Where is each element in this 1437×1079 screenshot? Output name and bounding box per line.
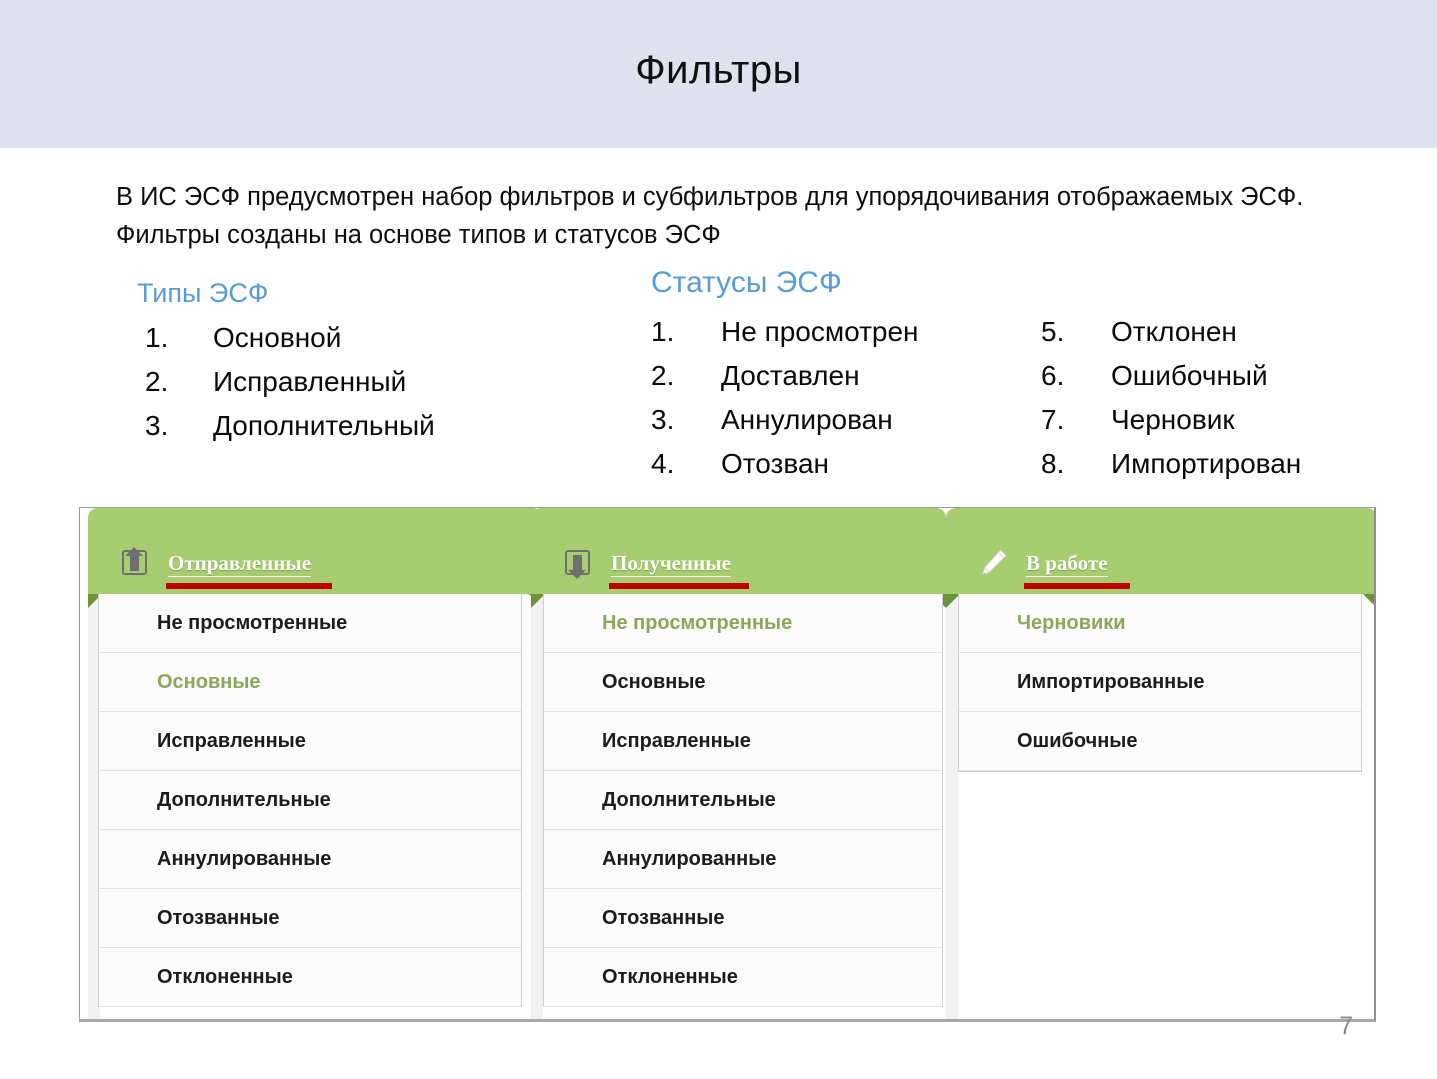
- list-item-label: Отозван: [721, 442, 1041, 486]
- download-box-icon: [561, 546, 595, 580]
- tab-label: В работе: [1026, 551, 1108, 577]
- subfilter-row[interactable]: Дополнительные: [99, 771, 521, 830]
- list-item: 5. Отклонен: [1041, 310, 1391, 354]
- esf-types-list: 1. Основной 2. Исправленный 3. Дополните…: [137, 316, 557, 448]
- subfilter-row[interactable]: Отклоненные: [99, 948, 521, 1007]
- red-underline-annotation: [609, 583, 749, 589]
- esf-statuses-block: Статусы ЭСФ 1. Не просмотрен 2. Доставле…: [651, 266, 1391, 486]
- list-item-number: 2.: [137, 360, 213, 404]
- filter-panel-received: Полученные Не просмотренные Основные Исп…: [531, 508, 946, 1007]
- page-title: Фильтры: [0, 48, 1437, 93]
- subfilter-row[interactable]: Аннулированные: [99, 830, 521, 889]
- list-item: 7. Черновик: [1041, 398, 1391, 442]
- tab-notch-right-icon: [1363, 594, 1376, 608]
- list-item: 3. Аннулирован: [651, 398, 1041, 442]
- subfilter-row[interactable]: Не просмотренные: [99, 594, 521, 653]
- subfilter-list-sent: Не просмотренные Основные Исправленные Д…: [98, 594, 522, 1007]
- list-item: 1. Основной: [137, 316, 557, 360]
- list-item: 1. Не просмотрен: [651, 310, 1041, 354]
- list-item-label: Дополнительный: [213, 404, 557, 448]
- esf-statuses-column-left: 1. Не просмотрен 2. Доставлен 3. Аннулир…: [651, 310, 1041, 486]
- list-item-label: Аннулирован: [721, 398, 1041, 442]
- list-item: 2. Доставлен: [651, 354, 1041, 398]
- subfilter-row[interactable]: Черновики: [959, 594, 1361, 653]
- tab-in-progress[interactable]: В работе: [946, 508, 1376, 594]
- tab-label: Полученные: [611, 551, 731, 577]
- intro-paragraph: В ИС ЭСФ предусмотрен набор фильтров и с…: [116, 178, 1326, 254]
- subfilter-row[interactable]: Исправленные: [544, 712, 942, 771]
- list-item: 4. Отозван: [651, 442, 1041, 486]
- list-item-label: Импортирован: [1111, 442, 1391, 486]
- subfilter-row[interactable]: Не просмотренные: [544, 594, 942, 653]
- filter-panel-in-progress: В работе Черновики Импортированные Ошибо…: [946, 508, 1376, 772]
- list-item-number: 2.: [651, 354, 721, 398]
- list-item-number: 5.: [1041, 310, 1111, 354]
- subfilter-row[interactable]: Исправленные: [99, 712, 521, 771]
- esf-filters-screenshot: Отправленные Не просмотренные Основные И…: [79, 507, 1376, 1022]
- pencil-icon-svg: [977, 548, 1009, 578]
- subfilter-row[interactable]: Отклоненные: [544, 948, 942, 1007]
- esf-statuses-heading: Статусы ЭСФ: [651, 266, 1391, 300]
- tab-sent[interactable]: Отправленные: [88, 508, 543, 594]
- list-item: 6. Ошибочный: [1041, 354, 1391, 398]
- esf-statuses-list-left: 1. Не просмотрен 2. Доставлен 3. Аннулир…: [651, 310, 1041, 486]
- esf-types-block: Типы ЭСФ 1. Основной 2. Исправленный 3. …: [137, 276, 557, 448]
- tab-label: Отправленные: [168, 551, 311, 577]
- list-item: 2. Исправленный: [137, 360, 557, 404]
- tab-received[interactable]: Полученные: [531, 508, 946, 594]
- pencil-icon: [976, 546, 1010, 580]
- esf-statuses-column-right: 5. Отклонен 6. Ошибочный 7. Черновик 8. …: [1041, 310, 1391, 486]
- list-item: 8. Импортирован: [1041, 442, 1391, 486]
- subfilter-list-received: Не просмотренные Основные Исправленные Д…: [543, 594, 943, 1007]
- list-item-number: 1.: [651, 310, 721, 354]
- list-item-number: 6.: [1041, 354, 1111, 398]
- list-item-number: 7.: [1041, 398, 1111, 442]
- upload-box-icon: [118, 546, 152, 580]
- list-item: 3. Дополнительный: [137, 404, 557, 448]
- list-item-label: Исправленный: [213, 360, 557, 404]
- list-item-number: 3.: [651, 398, 721, 442]
- list-item-label: Доставлен: [721, 354, 1041, 398]
- list-item-label: Не просмотрен: [721, 310, 1041, 354]
- subfilter-row[interactable]: Аннулированные: [544, 830, 942, 889]
- page-number: 7: [1339, 1012, 1353, 1041]
- list-item-label: Отклонен: [1111, 310, 1391, 354]
- subfilter-row[interactable]: Ошибочные: [959, 712, 1361, 771]
- list-item-number: 8.: [1041, 442, 1111, 486]
- subfilter-row[interactable]: Основные: [544, 653, 942, 712]
- list-item-label: Основной: [213, 316, 557, 360]
- filter-panel-sent: Отправленные Не просмотренные Основные И…: [88, 508, 543, 1007]
- esf-types-heading: Типы ЭСФ: [137, 276, 557, 310]
- subfilter-row[interactable]: Отозванные: [99, 889, 521, 948]
- list-item-number: 3.: [137, 404, 213, 448]
- list-item-label: Ошибочный: [1111, 354, 1391, 398]
- list-item-number: 4.: [651, 442, 721, 486]
- list-item-label: Черновик: [1111, 398, 1391, 442]
- esf-statuses-list-right: 5. Отклонен 6. Ошибочный 7. Черновик 8. …: [1041, 310, 1391, 486]
- panel-gutter: [531, 594, 543, 1022]
- subfilter-row[interactable]: Основные: [99, 653, 521, 712]
- subfilter-row[interactable]: Дополнительные: [544, 771, 942, 830]
- subfilter-row[interactable]: Отозванные: [544, 889, 942, 948]
- list-item-number: 1.: [137, 316, 213, 360]
- red-underline-annotation: [166, 583, 332, 589]
- subfilter-list-in-progress: Черновики Импортированные Ошибочные: [958, 594, 1362, 772]
- red-underline-annotation: [1024, 583, 1130, 589]
- subfilter-row[interactable]: Импортированные: [959, 653, 1361, 712]
- panel-gutter: [946, 594, 958, 1022]
